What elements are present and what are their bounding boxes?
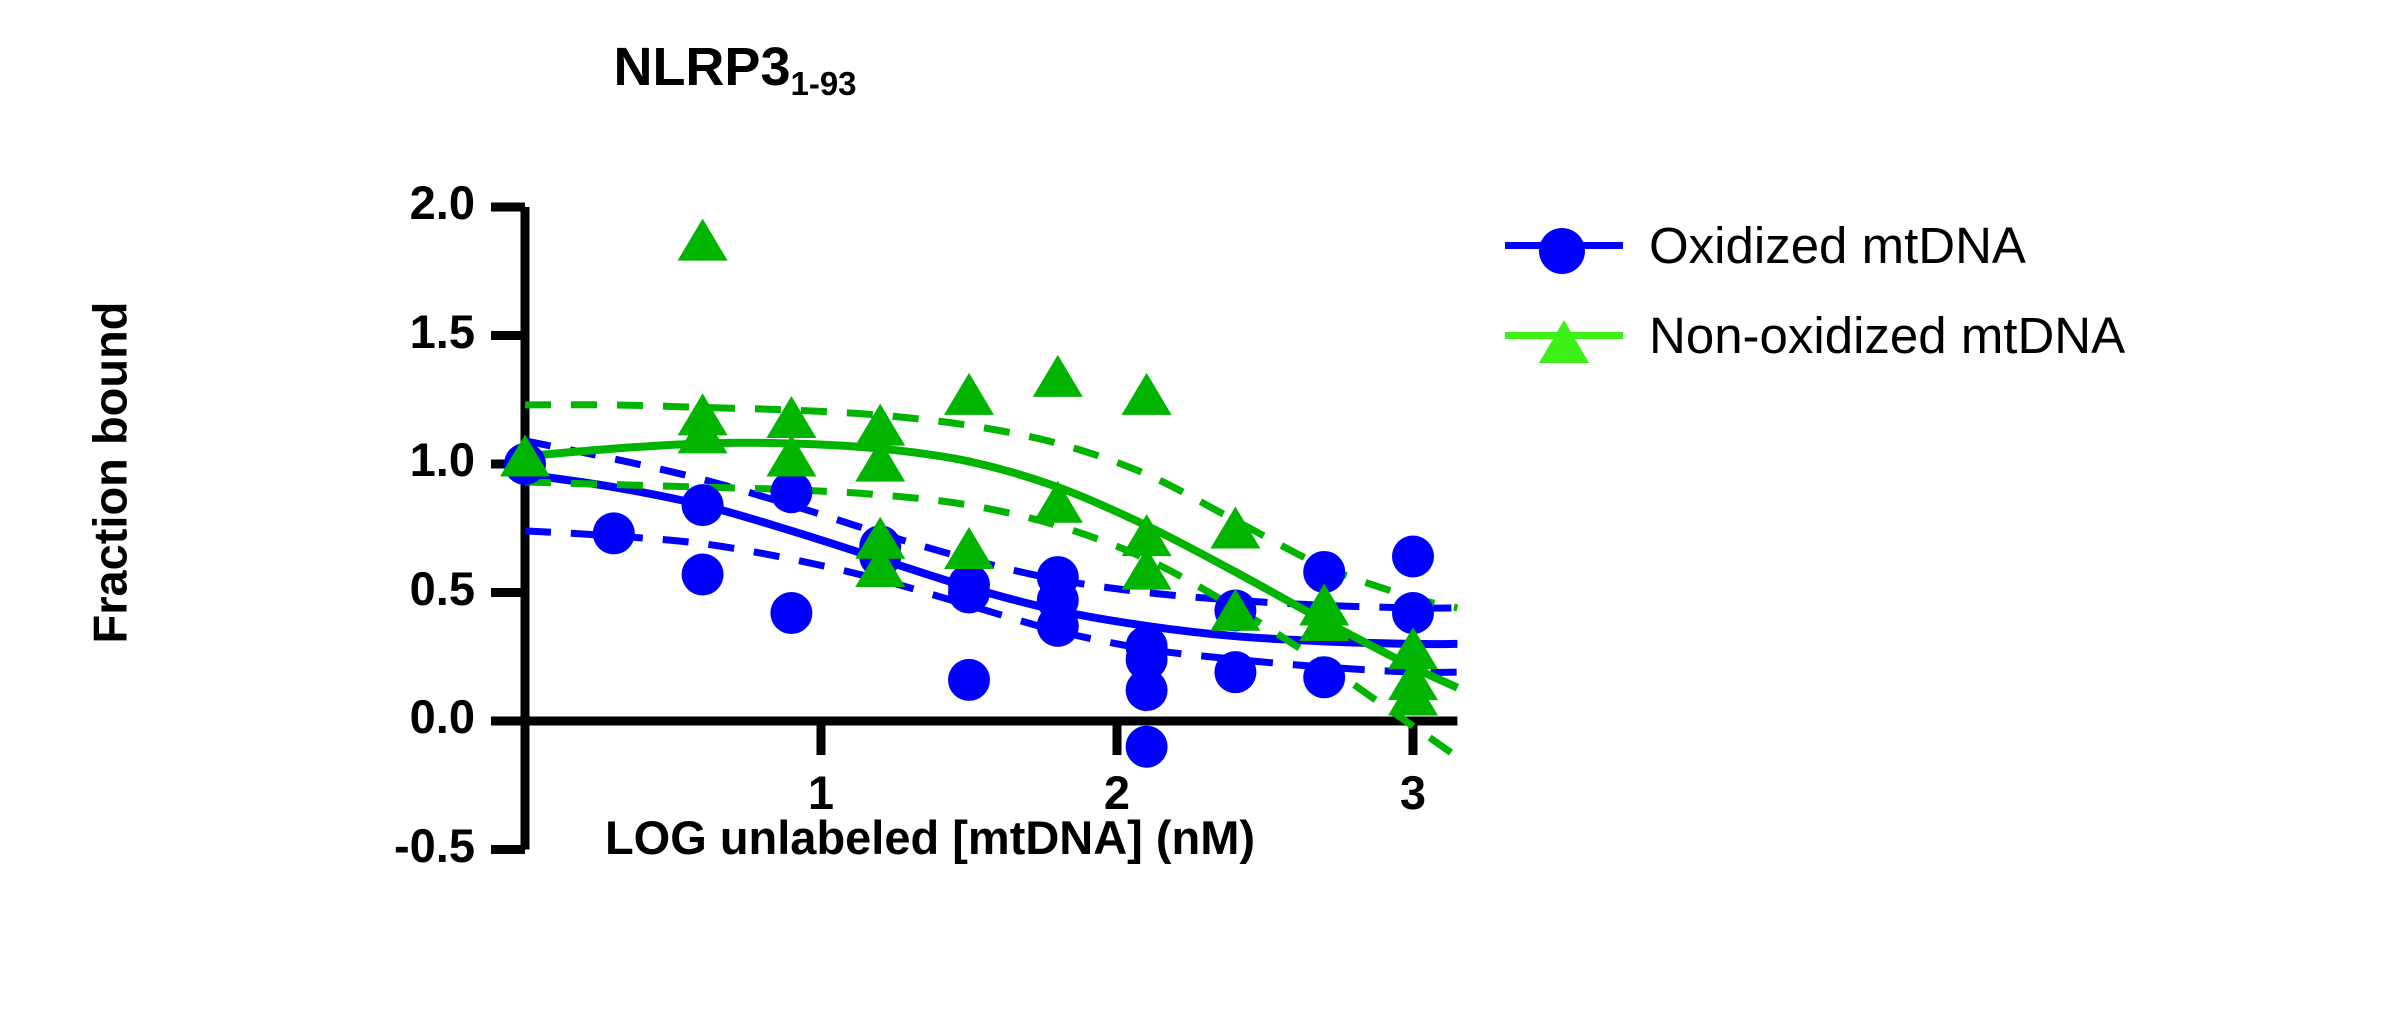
legend: Oxidized mtDNA Non-oxidized mtDNA: [1505, 200, 2125, 380]
data-point-circle: [948, 659, 990, 701]
legend-label-oxidized: Oxidized mtDNA: [1649, 216, 2026, 275]
data-point-circle: [770, 592, 812, 634]
legend-item-oxidized[interactable]: Oxidized mtDNA: [1505, 200, 2125, 290]
data-point-circle: [948, 572, 990, 614]
data-point-triangle: [944, 373, 994, 415]
data-point-triangle: [1033, 355, 1083, 397]
data-point-circle: [682, 554, 724, 596]
plot-canvas: [0, 0, 2408, 1021]
triangle-marker-icon: [1539, 320, 1589, 363]
legend-key-triangle-icon: [1505, 310, 1623, 360]
data-point-triangle: [678, 219, 728, 261]
legend-item-non-oxidized[interactable]: Non-oxidized mtDNA: [1505, 290, 2125, 380]
data-point-circle: [1037, 605, 1079, 647]
data-point-circle: [1303, 656, 1345, 698]
data-point-triangle: [766, 396, 816, 438]
axes: [491, 207, 1457, 850]
data-point-circle: [1126, 669, 1168, 711]
legend-key-circle-icon: [1505, 220, 1623, 270]
legend-label-non-oxidized: Non-oxidized mtDNA: [1649, 306, 2125, 365]
data-point-circle: [1392, 536, 1434, 578]
data-point-triangle: [1033, 481, 1083, 523]
circle-marker-icon: [1539, 228, 1585, 274]
data-point-circle: [770, 471, 812, 513]
data-point-circle: [1214, 651, 1256, 693]
figure-panel: NLRP31-93 Fraction bound LOG unlabeled […: [0, 0, 2408, 1021]
data-point-triangle: [1122, 373, 1172, 415]
data-point-triangle: [855, 404, 905, 446]
data-point-triangle: [944, 527, 994, 569]
data-point-circle: [1126, 726, 1168, 768]
data-point-circle: [593, 512, 635, 554]
data-point-circle: [682, 484, 724, 526]
